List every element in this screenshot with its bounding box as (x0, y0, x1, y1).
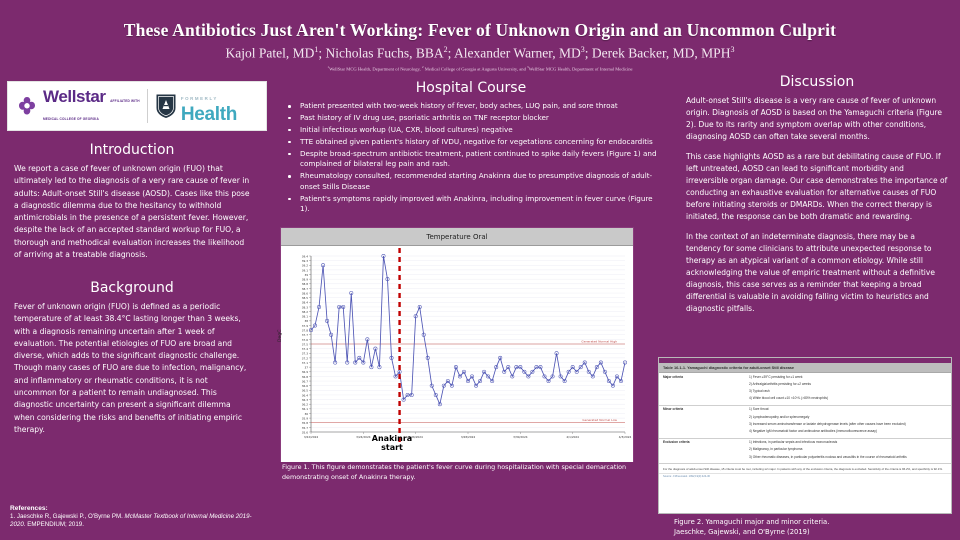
list-item: Initial infectious workup (UA, CXR, bloo… (278, 125, 664, 135)
pinwheel-icon (16, 95, 38, 117)
figure1-caption: Figure 1. This figure demonstrates the p… (282, 463, 652, 482)
svg-text:36.3: 36.3 (302, 398, 308, 402)
shield-icon (155, 93, 177, 119)
criteria-items: 1) Fever ≥39°C persisting for ≥1 week2) … (745, 373, 951, 405)
svg-text:36.7: 36.7 (302, 379, 308, 383)
au-health-logo: FORMERLY Health (155, 87, 266, 125)
reference-suffix: EMPENDIUM; 2019. (25, 521, 83, 528)
criteria-item: 4) Negative IgM rheumatoid factor and an… (749, 429, 947, 434)
hospital-course-heading: Hospital Course (278, 80, 664, 96)
criteria-item: 4) White blood cell count ≥10 ×10⁹/L (>8… (749, 396, 947, 401)
figure2-caption-line1: Figure 2. Yamaguchi major and minor crit… (674, 518, 954, 528)
wellstar-text-block: Wellstar AFFILIATED WITH MEDICAL COLLEGE… (43, 88, 140, 125)
svg-text:38.3: 38.3 (302, 305, 308, 309)
svg-text:38.6: 38.6 (302, 291, 308, 295)
list-item: Past history of IV drug use, psoriatic a… (278, 113, 664, 123)
svg-text:37.9: 37.9 (302, 324, 308, 328)
criteria-item: 1) Fever ≥39°C persisting for ≥1 week (749, 375, 947, 380)
chart-plot-area: DegC 39.439.339.239.13938.938.838.738.63… (281, 246, 633, 462)
svg-text:39.2: 39.2 (302, 264, 308, 268)
svg-text:Generated Normal High: Generated Normal High (581, 339, 617, 343)
introduction-text: We report a case of fever of unknown ori… (14, 163, 250, 261)
svg-text:38.9: 38.9 (302, 278, 308, 282)
anakinra-line2: start (381, 443, 403, 452)
paragraph: This case highlights AOSD as a rare but … (686, 151, 948, 222)
svg-text:37: 37 (304, 366, 308, 370)
list-item: Patient presented with two-week history … (278, 101, 664, 111)
criteria-item: 3) Other rheumatic diseases, in particul… (749, 455, 947, 460)
criteria-category: Exclusion criteria (659, 438, 745, 463)
svg-text:37.6: 37.6 (302, 338, 308, 342)
svg-text:36.6: 36.6 (302, 384, 308, 388)
background-heading: Background (14, 280, 250, 296)
svg-text:35.7: 35.7 (302, 426, 308, 430)
list-item: TTE obtained given patient's history of … (278, 137, 664, 147)
svg-text:36.2: 36.2 (302, 403, 308, 407)
svg-text:37.8: 37.8 (302, 329, 308, 333)
page-title: These Antibiotics Just Aren't Working: F… (0, 0, 960, 40)
yamaguchi-footnote: For the diagnosis of adult-onset Still d… (659, 463, 951, 472)
svg-text:37.7: 37.7 (302, 333, 308, 337)
anakinra-line1: Anakinra (372, 434, 412, 443)
svg-text:38.4: 38.4 (302, 301, 308, 305)
criteria-item: 1) Infections, in particular sepsis and … (749, 440, 947, 445)
criteria-item: 2) Malignancy, in particular lymphoma (749, 447, 947, 452)
svg-text:36.5: 36.5 (302, 389, 308, 393)
svg-text:38.8: 38.8 (302, 282, 308, 286)
table-row: Major criteria1) Fever ≥39°C persisting … (659, 373, 951, 405)
section-introduction: Introduction We report a case of fever o… (14, 142, 250, 261)
figure2-caption-line2: Jaeschke, Gajewski, and O'Byrne (2019) (674, 528, 954, 538)
criteria-item: 1) Sore throat (749, 407, 947, 412)
criteria-item: 2) Lymphadenopathy and/or splenomegaly (749, 415, 947, 420)
hospital-course-list: Patient presented with two-week history … (278, 101, 664, 214)
table-row: Minor criteria1) Sore throat2) Lymphaden… (659, 406, 951, 439)
section-hospital-course: Hospital Course Patient presented with t… (278, 80, 664, 216)
criteria-category: Minor criteria (659, 406, 745, 439)
formerly-label: FORMERLY (181, 96, 218, 101)
svg-text:39.1: 39.1 (302, 268, 308, 272)
paragraph: In the context of an indeterminate diagn… (686, 231, 948, 314)
reference-item: 1. Jaeschke R, Gajewski P., O'Byrne PM. … (10, 513, 260, 530)
criteria-category: Major criteria (659, 373, 745, 405)
svg-text:4/3/2024: 4/3/2024 (619, 435, 632, 439)
wellstar-logo: Wellstar AFFILIATED WITH MEDICAL COLLEGE… (8, 88, 140, 125)
criteria-item: 3) Typical rash (749, 389, 947, 394)
logo-bar: Wellstar AFFILIATED WITH MEDICAL COLLEGE… (8, 82, 266, 130)
discussion-text: Adult-onset Still's disease is a very ra… (686, 95, 948, 314)
yamaguchi-criteria-table: Major criteria1) Fever ≥39°C persisting … (659, 373, 951, 463)
criteria-items: 1) Infections, in particular sepsis and … (745, 438, 951, 463)
svg-text:39.3: 39.3 (302, 259, 308, 263)
svg-text:38: 38 (304, 319, 308, 323)
svg-text:39: 39 (304, 273, 308, 277)
section-background: Background Fever of unknown origin (FUO)… (14, 280, 250, 436)
discussion-heading: Discussion (686, 74, 948, 90)
references-heading: References: (10, 505, 260, 512)
section-references: References: 1. Jaeschke R, Gajewski P., … (10, 505, 260, 530)
svg-text:38.1: 38.1 (302, 315, 308, 319)
logo-divider (147, 89, 148, 123)
svg-text:36.8: 36.8 (302, 375, 308, 379)
list-item: Rheumatology consulted, recommended star… (278, 171, 664, 192)
left-column: Wellstar AFFILIATED WITH MEDICAL COLLEGE… (0, 78, 272, 540)
poster-header: These Antibiotics Just Aren't Working: F… (0, 0, 960, 78)
svg-text:39.4: 39.4 (302, 254, 308, 258)
chart-svg: 39.439.339.239.13938.938.838.738.638.538… (281, 246, 633, 462)
svg-text:36.9: 36.9 (302, 370, 308, 374)
svg-text:35.9: 35.9 (302, 417, 308, 421)
svg-text:3/22/2024: 3/22/2024 (304, 435, 319, 439)
svg-text:37.3: 37.3 (302, 352, 308, 356)
svg-text:38.5: 38.5 (302, 296, 308, 300)
chart-title: Temperature Oral (426, 233, 487, 241)
figure2-caption: Figure 2. Yamaguchi major and minor crit… (674, 518, 954, 538)
svg-text:35.8: 35.8 (302, 421, 308, 425)
figure2-table: Table 16.1-1. Yamaguchi diagnostic crite… (658, 357, 952, 514)
svg-text:37.5: 37.5 (302, 342, 308, 346)
health-text-block: FORMERLY Health (181, 87, 266, 125)
criteria-item: 3) Increased serum aminotransferase or l… (749, 422, 947, 427)
svg-text:Generated Normal Low: Generated Normal Low (582, 418, 617, 422)
svg-text:36.4: 36.4 (302, 393, 308, 397)
anakinra-annotation: Anakinra start (346, 434, 438, 452)
svg-text:37.1: 37.1 (302, 361, 308, 365)
reference-prefix: 1. Jaeschke R, Gajewski P., O'Byrne PM. (10, 513, 125, 520)
yamaguchi-table-title: Table 16.1-1. Yamaguchi diagnostic crite… (659, 363, 951, 373)
svg-text:3/28/2024: 3/28/2024 (461, 435, 476, 439)
wellstar-wordmark: Wellstar (43, 87, 106, 106)
list-item: Despite broad-spectrum antibiotic treatm… (278, 149, 664, 170)
poster-canvas: These Antibiotics Just Aren't Working: F… (0, 0, 960, 540)
author-list: Kajol Patel, MD1; Nicholas Fuchs, BBA2; … (0, 40, 960, 61)
figure1-chart: Temperature Oral DegC 39.439.339.239.139… (280, 227, 634, 462)
svg-text:37.4: 37.4 (302, 347, 308, 351)
svg-text:36.1: 36.1 (302, 407, 308, 411)
svg-text:4/1/2024: 4/1/2024 (566, 435, 579, 439)
introduction-heading: Introduction (14, 142, 250, 158)
criteria-item: 2) Arthralgia/arthritis persisting for ≥… (749, 382, 947, 387)
list-item: Patient's symptoms rapidly improved with… (278, 194, 664, 215)
svg-text:37.2: 37.2 (302, 356, 308, 360)
paragraph: Adult-onset Still's disease is a very ra… (686, 95, 948, 142)
section-discussion: Discussion Adult-onset Still's disease i… (686, 74, 948, 323)
chart-title-bar: Temperature Oral (281, 228, 633, 246)
svg-text:36: 36 (304, 412, 308, 416)
right-column: Discussion Adult-onset Still's disease i… (670, 70, 960, 540)
table-row: Exclusion criteria1) Infections, in part… (659, 438, 951, 463)
yamaguchi-table-body: Major criteria1) Fever ≥39°C persisting … (659, 373, 951, 463)
svg-text:3/30/2024: 3/30/2024 (513, 435, 528, 439)
svg-text:35.6: 35.6 (302, 430, 308, 434)
health-wordmark: Health (181, 104, 237, 125)
middle-column: Hospital Course Patient presented with t… (272, 78, 670, 540)
criteria-items: 1) Sore throat2) Lymphadenopathy and/or … (745, 406, 951, 439)
yamaguchi-source: Source: J Rheumatol. 1992;19(3):424-30 (659, 473, 951, 481)
background-text: Fever of unknown origin (FUO) is defined… (14, 301, 250, 436)
svg-text:38.2: 38.2 (302, 310, 308, 314)
svg-text:38.7: 38.7 (302, 287, 308, 291)
